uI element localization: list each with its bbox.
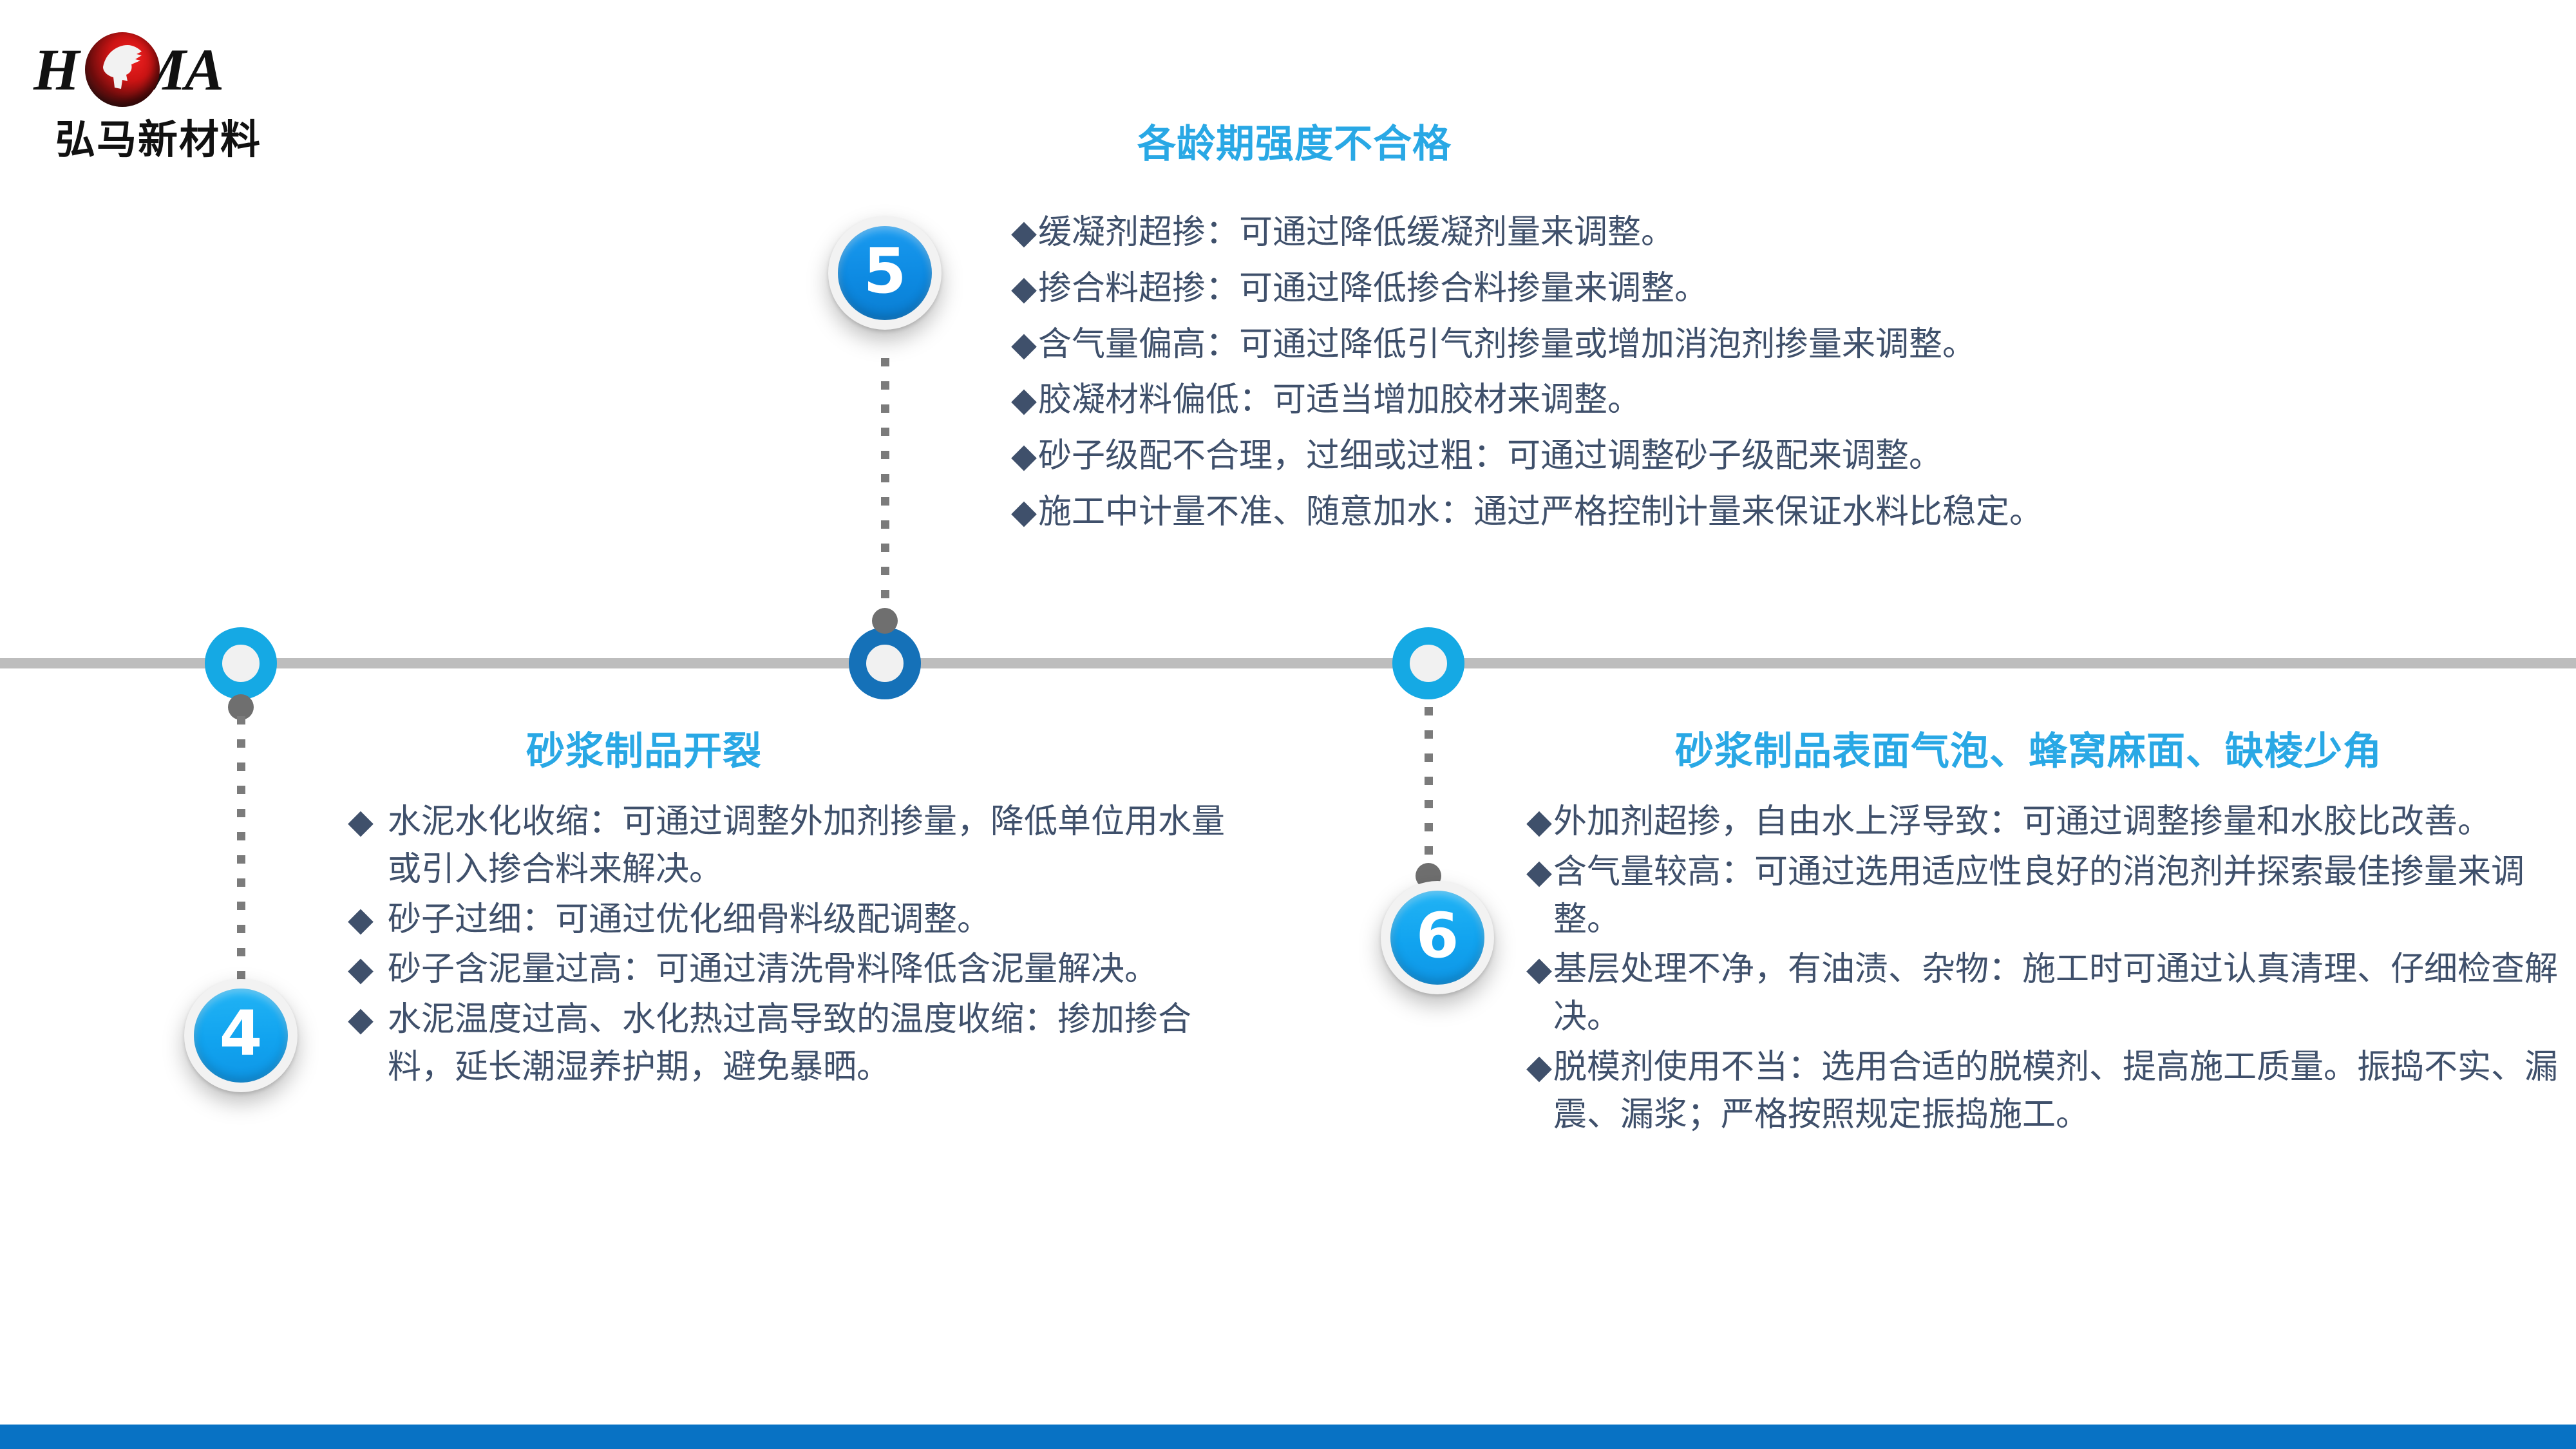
list-item: ◆ 砂子过细：可通过优化细骨料级配调整。	[348, 896, 1236, 944]
step-badge-4-inner: 4	[194, 989, 288, 1083]
diamond-bullet-icon: ◆	[1526, 849, 1552, 944]
diamond-bullet-icon: ◆	[348, 996, 374, 1092]
connector-line-6	[1425, 707, 1433, 881]
list-item-text: 施工中计量不准、随意加水：通过严格控制计量来保证水料比稳定。	[1038, 489, 2043, 536]
list-item-text: 缓凝剂超掺：可通过降低缓凝剂量来调整。	[1038, 209, 1674, 257]
list-item-text: 含气量较高：可通过选用适应性良好的消泡剂并探索最佳掺量来调整。	[1553, 849, 2563, 944]
list-item: ◆ 含气量偏高：可通过降低引气剂掺量或增加消泡剂掺量来调整。	[1011, 321, 2544, 369]
diamond-bullet-icon: ◆	[1011, 209, 1037, 257]
list-item: ◆ 含气量较高：可通过选用适应性良好的消泡剂并探索最佳掺量来调整。	[1526, 849, 2563, 944]
section-5-title: 各龄期强度不合格	[1137, 113, 1452, 169]
list-item: ◆ 砂子级配不合理，过细或过粗：可通过调整砂子级配来调整。	[1011, 433, 2544, 480]
section-6-title: 砂浆制品表面气泡、蜂窝麻面、缺棱少角	[1675, 720, 2382, 776]
step-number-5: 5	[864, 240, 907, 302]
timeline-node-4[interactable]	[205, 627, 277, 699]
list-item: ◆ 砂子含泥量过高：可通过清洗骨料降低含泥量解决。	[348, 946, 1236, 994]
step-badge-5[interactable]: 5	[828, 216, 942, 330]
list-item: ◆ 水泥水化收缩：可通过调整外加剂掺量，降低单位用水量或引入掺合料来解决。	[348, 799, 1236, 894]
section-4-title: 砂浆制品开裂	[526, 720, 762, 776]
diamond-bullet-icon: ◆	[348, 896, 374, 944]
list-item-text: 水泥水化收缩：可通过调整外加剂掺量，降低单位用水量或引入掺合料来解决。	[388, 799, 1236, 894]
diamond-bullet-icon: ◆	[1526, 799, 1552, 846]
diamond-bullet-icon: ◆	[1526, 1044, 1552, 1139]
timeline-axis	[0, 658, 2576, 668]
timeline-node-6[interactable]	[1392, 627, 1464, 699]
timeline-node-5[interactable]	[849, 627, 921, 699]
diamond-bullet-icon: ◆	[1011, 377, 1037, 424]
step-badge-6[interactable]: 6	[1381, 881, 1494, 994]
company-logo: H NMA 弘马新材料	[33, 31, 265, 166]
list-item-text: 砂子含泥量过高：可通过清洗骨料降低含泥量解决。	[388, 946, 1158, 994]
list-item: ◆ 水泥温度过高、水化热过高导致的温度收缩：掺加掺合料，延长潮湿养护期，避免暴晒…	[348, 996, 1236, 1092]
horse-head-icon	[99, 41, 149, 98]
slide-canvas: H NMA 弘马新材料 4 5 6 各龄期强度不合格	[0, 0, 2576, 1449]
footer-bar	[0, 1425, 2576, 1449]
list-item: ◆ 缓凝剂超掺：可通过降低缓凝剂量来调整。	[1011, 209, 2544, 257]
diamond-bullet-icon: ◆	[1011, 433, 1037, 480]
step-number-4: 4	[220, 1003, 263, 1065]
list-item: ◆ 掺合料超掺：可通过降低掺合料掺量来调整。	[1011, 265, 2544, 313]
step-badge-4[interactable]: 4	[184, 979, 298, 1092]
diamond-bullet-icon: ◆	[348, 799, 374, 894]
diamond-bullet-icon: ◆	[1011, 489, 1037, 536]
list-item-text: 砂子过细：可通过优化细骨料级配调整。	[388, 896, 990, 944]
step-badge-5-inner: 5	[838, 226, 932, 320]
diamond-bullet-icon: ◆	[1011, 321, 1037, 369]
section-4-bullets: ◆ 水泥水化收缩：可通过调整外加剂掺量，降低单位用水量或引入掺合料来解决。 ◆ …	[348, 799, 1236, 1094]
list-item-text: 脱模剂使用不当：选用合适的脱模剂、提高施工质量。振捣不实、漏震、漏浆；严格按照规…	[1553, 1044, 2563, 1139]
section-6-bullets: ◆ 外加剂超掺，自由水上浮导致：可通过调整掺量和水胶比改善。 ◆ 含气量较高：可…	[1526, 799, 2563, 1142]
list-item-text: 胶凝材料偏低：可适当增加胶材来调整。	[1038, 377, 1641, 424]
list-item-text: 砂子级配不合理，过细或过粗：可通过调整砂子级配来调整。	[1038, 433, 1942, 480]
list-item: ◆ 外加剂超掺，自由水上浮导致：可通过调整掺量和水胶比改善。	[1526, 799, 2563, 846]
list-item-text: 基层处理不净，有油渍、杂物：施工时可通过认真清理、仔细检查解决。	[1553, 946, 2563, 1041]
list-item-text: 水泥温度过高、水化热过高导致的温度收缩：掺加掺合料，延长潮湿养护期，避免暴晒。	[388, 996, 1236, 1092]
diamond-bullet-icon: ◆	[1011, 265, 1037, 313]
list-item-text: 外加剂超掺，自由水上浮导致：可通过调整掺量和水胶比改善。	[1553, 799, 2491, 846]
connector-line-4	[237, 716, 245, 999]
logo-wordmark-cn: 弘马新材料	[55, 107, 261, 165]
logo-wordmark-row: H NMA	[33, 31, 246, 108]
list-item-text: 掺合料超掺：可通过降低掺合料掺量来调整。	[1038, 265, 1708, 313]
step-number-6: 6	[1416, 905, 1459, 967]
diamond-bullet-icon: ◆	[348, 946, 374, 994]
step-badge-6-inner: 6	[1390, 891, 1484, 985]
diamond-bullet-icon: ◆	[1526, 946, 1552, 1041]
list-item: ◆ 脱模剂使用不当：选用合适的脱模剂、提高施工质量。振捣不实、漏震、漏浆；严格按…	[1526, 1044, 2563, 1139]
list-item: ◆ 胶凝材料偏低：可适当增加胶材来调整。	[1011, 377, 2544, 424]
horse-globe-icon	[85, 32, 160, 107]
list-item: ◆ 基层处理不净，有油渍、杂物：施工时可通过认真清理、仔细检查解决。	[1526, 946, 2563, 1041]
connector-line-5	[881, 358, 889, 613]
list-item: ◆ 施工中计量不准、随意加水：通过严格控制计量来保证水料比稳定。	[1011, 489, 2544, 536]
list-item-text: 含气量偏高：可通过降低引气剂掺量或增加消泡剂掺量来调整。	[1038, 321, 1976, 369]
section-5-bullets: ◆ 缓凝剂超掺：可通过降低缓凝剂量来调整。 ◆ 掺合料超掺：可通过降低掺合料掺量…	[1011, 209, 2544, 545]
